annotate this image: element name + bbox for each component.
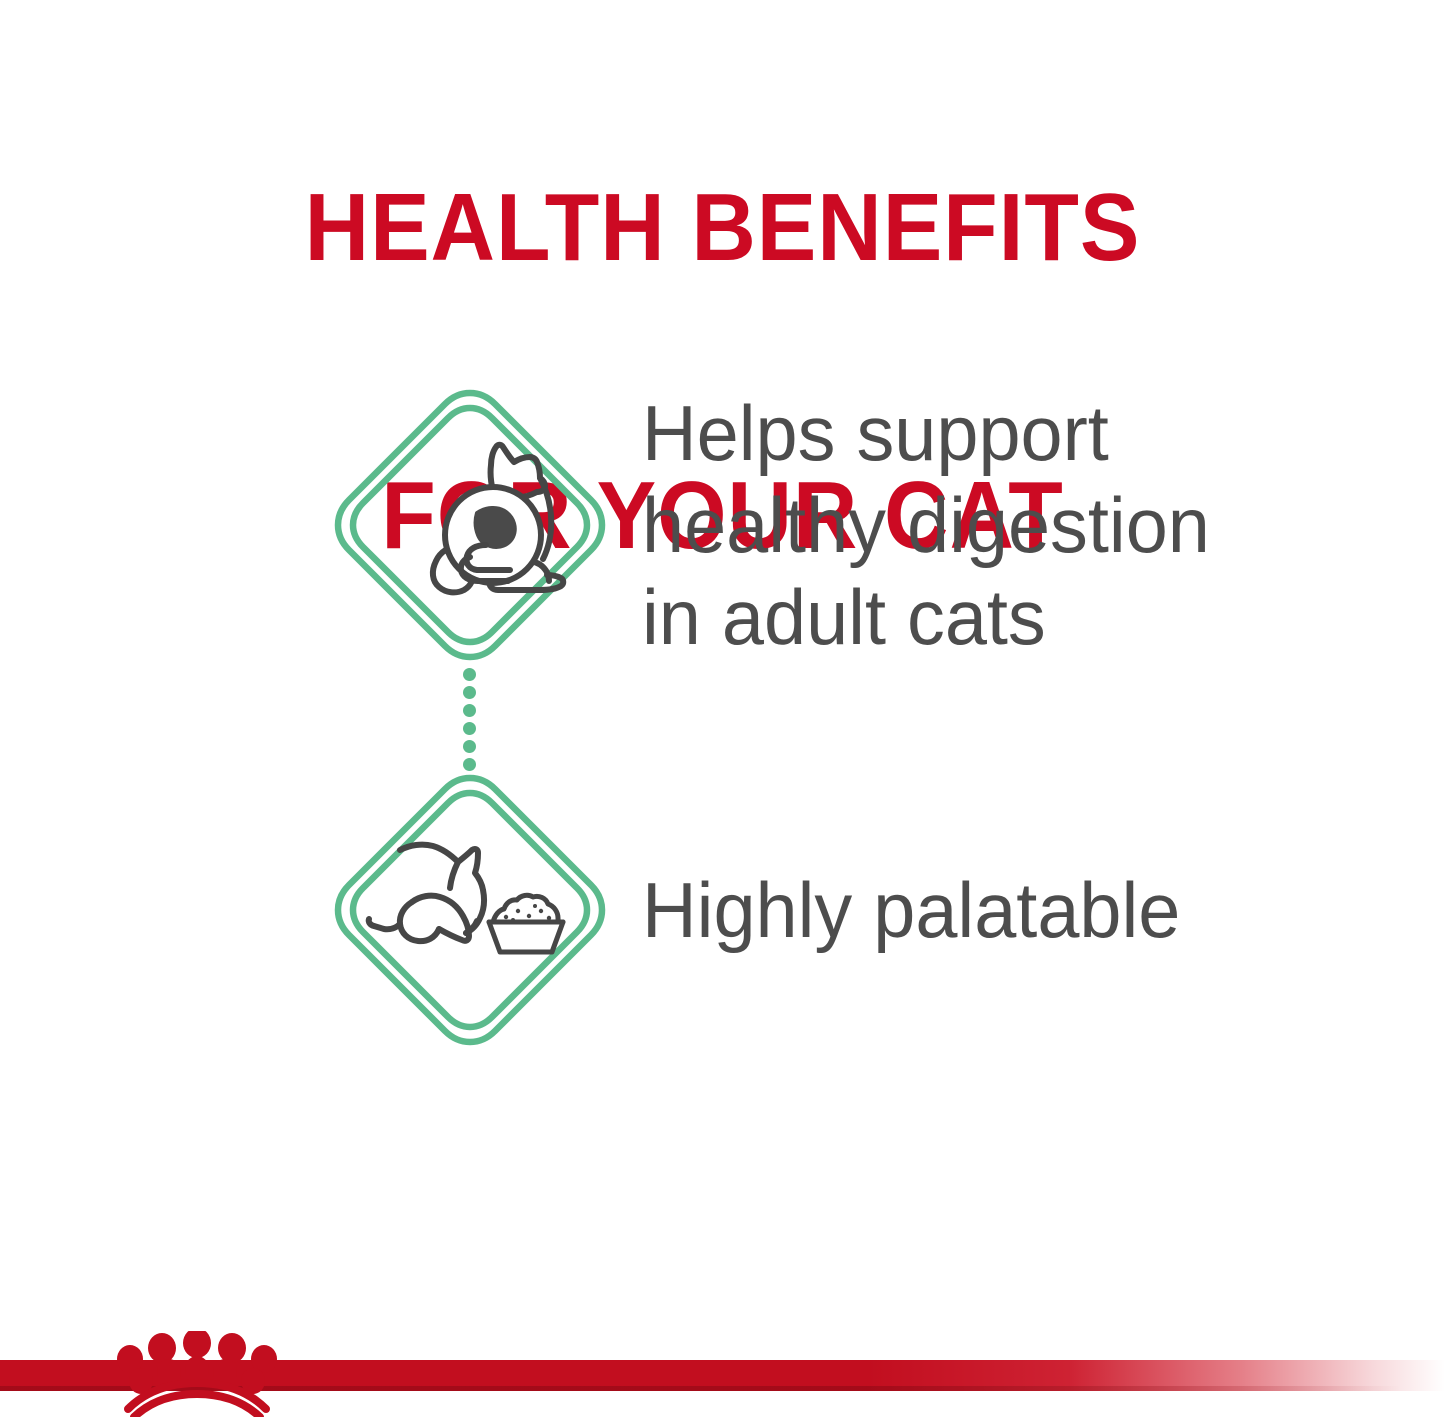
benefit-label: Helps support healthy digestion in adult…	[642, 387, 1210, 663]
dotted-connector	[463, 668, 483, 768]
poster-canvas: HEALTH BENEFITS FOR YOUR CAT	[0, 0, 1445, 1417]
benefit-label: Highly palatable	[642, 864, 1180, 956]
benefit-row: Helps support healthy digestion in adult…	[330, 380, 1420, 670]
connector-dot	[463, 740, 476, 753]
royal-canin-crown-logo	[112, 1331, 282, 1417]
page-title-line-1: HEALTH BENEFITS	[51, 180, 1395, 276]
cat-digestion-icon	[330, 385, 610, 665]
cat-eating-bowl-icon	[330, 770, 610, 1050]
connector-dot	[463, 722, 476, 735]
benefit-row: Highly palatable	[330, 765, 1420, 1055]
connector-dot	[463, 686, 476, 699]
connector-dot	[463, 704, 476, 717]
connector-dot	[463, 668, 476, 681]
